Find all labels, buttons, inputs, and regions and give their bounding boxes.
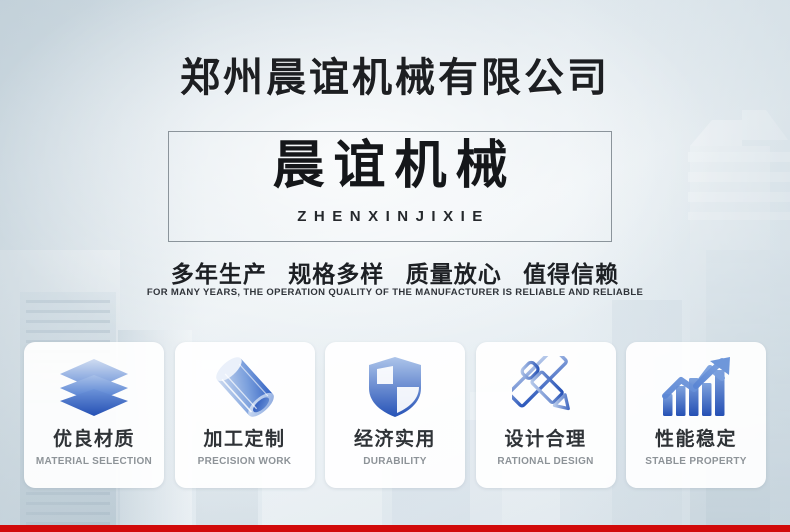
feature-card-material-selection[interactable]: 优良材质 MATERIAL SELECTION xyxy=(24,342,164,488)
feature-label-en: PRECISION WORK xyxy=(198,456,292,467)
feature-label-cn: 设计合理 xyxy=(504,424,586,451)
slogan-part-2: 规格多样 xyxy=(288,261,384,287)
feature-label-cn: 加工定制 xyxy=(203,424,285,451)
brand-title: 晨谊机械 xyxy=(168,139,612,194)
feature-card-stable-property[interactable]: 性能稳定 STABLE PROPERTY xyxy=(626,342,766,488)
feature-label-cn: 经济实用 xyxy=(354,424,436,451)
feature-label-en: RATIONAL DESIGN xyxy=(497,456,593,467)
feature-label-en: DURABILITY xyxy=(363,456,427,467)
feature-card-row: 优良材质 MATERIAL SELECTION xyxy=(24,342,766,488)
slogan-part-3: 质量放心 xyxy=(406,261,502,287)
feature-label-cn: 优良材质 xyxy=(53,424,135,451)
slogan-part-1: 多年生产 xyxy=(171,261,267,287)
feature-card-precision-work[interactable]: 加工定制 PRECISION WORK xyxy=(175,342,315,488)
slogan-part-4: 值得信赖 xyxy=(523,261,619,287)
ruler-pen-icon xyxy=(512,355,580,419)
brand-pinyin: ZHENXINJIXIE xyxy=(168,208,612,225)
feature-label-cn: 性能稳定 xyxy=(655,424,737,451)
slogan-chinese: 多年生产 规格多样 质量放心 值得信赖 xyxy=(0,255,790,289)
feature-label-en: STABLE PROPERTY xyxy=(645,456,747,467)
shield-icon xyxy=(367,355,423,419)
pipe-icon xyxy=(211,355,279,419)
layers-icon xyxy=(58,355,130,419)
bottom-accent-bar xyxy=(0,525,790,532)
feature-card-durability[interactable]: 经济实用 DURABILITY xyxy=(325,342,465,488)
feature-label-en: MATERIAL SELECTION xyxy=(36,456,152,467)
growth-chart-icon xyxy=(660,355,732,419)
feature-card-rational-design[interactable]: 设计合理 RATIONAL DESIGN xyxy=(476,342,616,488)
promo-banner: 郑州晨谊机械有限公司 晨谊机械 ZHENXINJIXIE 多年生产 规格多样 质… xyxy=(0,0,790,532)
slogan-english: FOR MANY YEARS, THE OPERATION QUALITY OF… xyxy=(0,287,790,298)
company-name: 郑州晨谊机械有限公司 xyxy=(0,58,790,98)
